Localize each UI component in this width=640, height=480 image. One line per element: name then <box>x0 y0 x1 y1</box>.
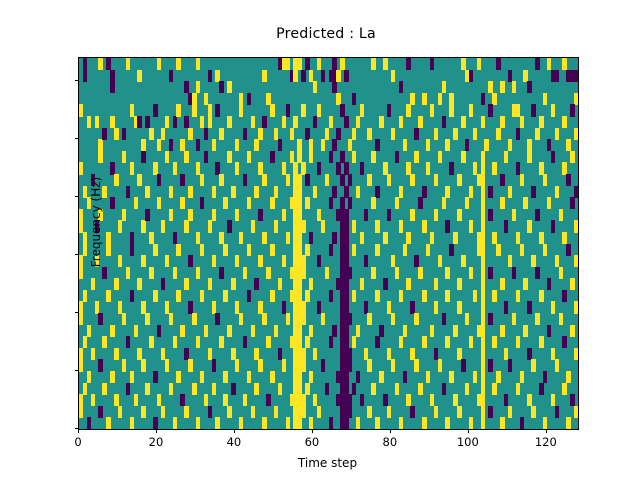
y-tick-mark <box>75 196 79 197</box>
chart-title-text: Predicted : La <box>276 26 376 42</box>
y-tick-mark <box>75 80 79 81</box>
x-tick-label: 100 <box>438 435 498 449</box>
x-tick-label: 120 <box>516 435 576 449</box>
axis-decorations: 020000400006000080000100000120000 020406… <box>78 57 577 428</box>
x-tick-label: 60 <box>282 435 342 449</box>
x-axis-label: Time step <box>78 456 577 470</box>
y-tick-mark <box>75 312 79 313</box>
x-tick-label: 20 <box>126 435 186 449</box>
x-tick-mark <box>468 429 469 433</box>
matplotlib-figure: Predicted : La 0200004000060000800001000… <box>0 0 640 480</box>
y-tick-mark <box>75 138 79 139</box>
y-axis-label: Frequency (Hz) <box>89 142 103 302</box>
y-tick-mark <box>75 254 79 255</box>
x-tick-label: 0 <box>48 435 108 449</box>
x-tick-mark <box>78 429 79 433</box>
x-tick-mark <box>546 429 547 433</box>
chart-title: Predicted : La <box>0 26 640 42</box>
x-tick-mark <box>390 429 391 433</box>
x-tick-mark <box>156 429 157 433</box>
x-tick-label: 80 <box>360 435 420 449</box>
x-tick-mark <box>312 429 313 433</box>
y-tick-mark <box>75 370 79 371</box>
x-tick-mark <box>234 429 235 433</box>
x-tick-label: 40 <box>204 435 264 449</box>
